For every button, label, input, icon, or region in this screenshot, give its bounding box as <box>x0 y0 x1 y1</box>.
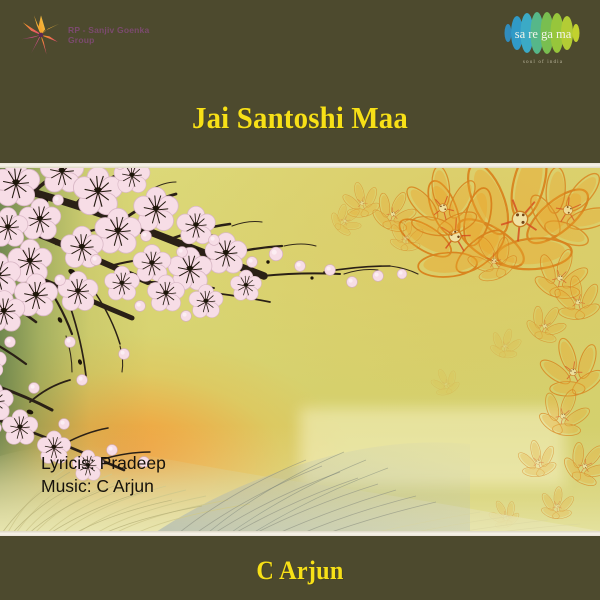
rp-sanjiv-goenka-group-logo[interactable]: RP - Sanjiv GoenkaGroup <box>20 14 149 56</box>
saregama-logo[interactable]: sa re ga ma soul of india <box>500 8 586 74</box>
rp-logo-line2: Group <box>68 35 95 45</box>
saregama-petals-icon: sa re ga ma <box>500 8 586 58</box>
artist-name: C Arjun <box>21 556 579 586</box>
credits-block: Lyricis: Pradeep Music: C Arjun <box>41 452 166 498</box>
album-title: Jai Santoshi Maa <box>21 100 579 136</box>
album-cover: Lyricis: Pradeep Music: C Arjun <box>0 0 600 600</box>
star-burst-icon <box>20 14 62 56</box>
rp-logo-line1: RP - Sanjiv Goenka <box>68 25 149 35</box>
saregama-tagline: soul of india <box>500 59 586 65</box>
rp-logo-text: RP - Sanjiv GoenkaGroup <box>68 25 149 45</box>
saregama-wordmark: sa re ga ma <box>515 27 572 41</box>
top-divider-rule <box>0 163 600 168</box>
lyrics-credit: Lyricis: Pradeep <box>41 452 166 475</box>
music-credit: Music: C Arjun <box>41 475 166 498</box>
